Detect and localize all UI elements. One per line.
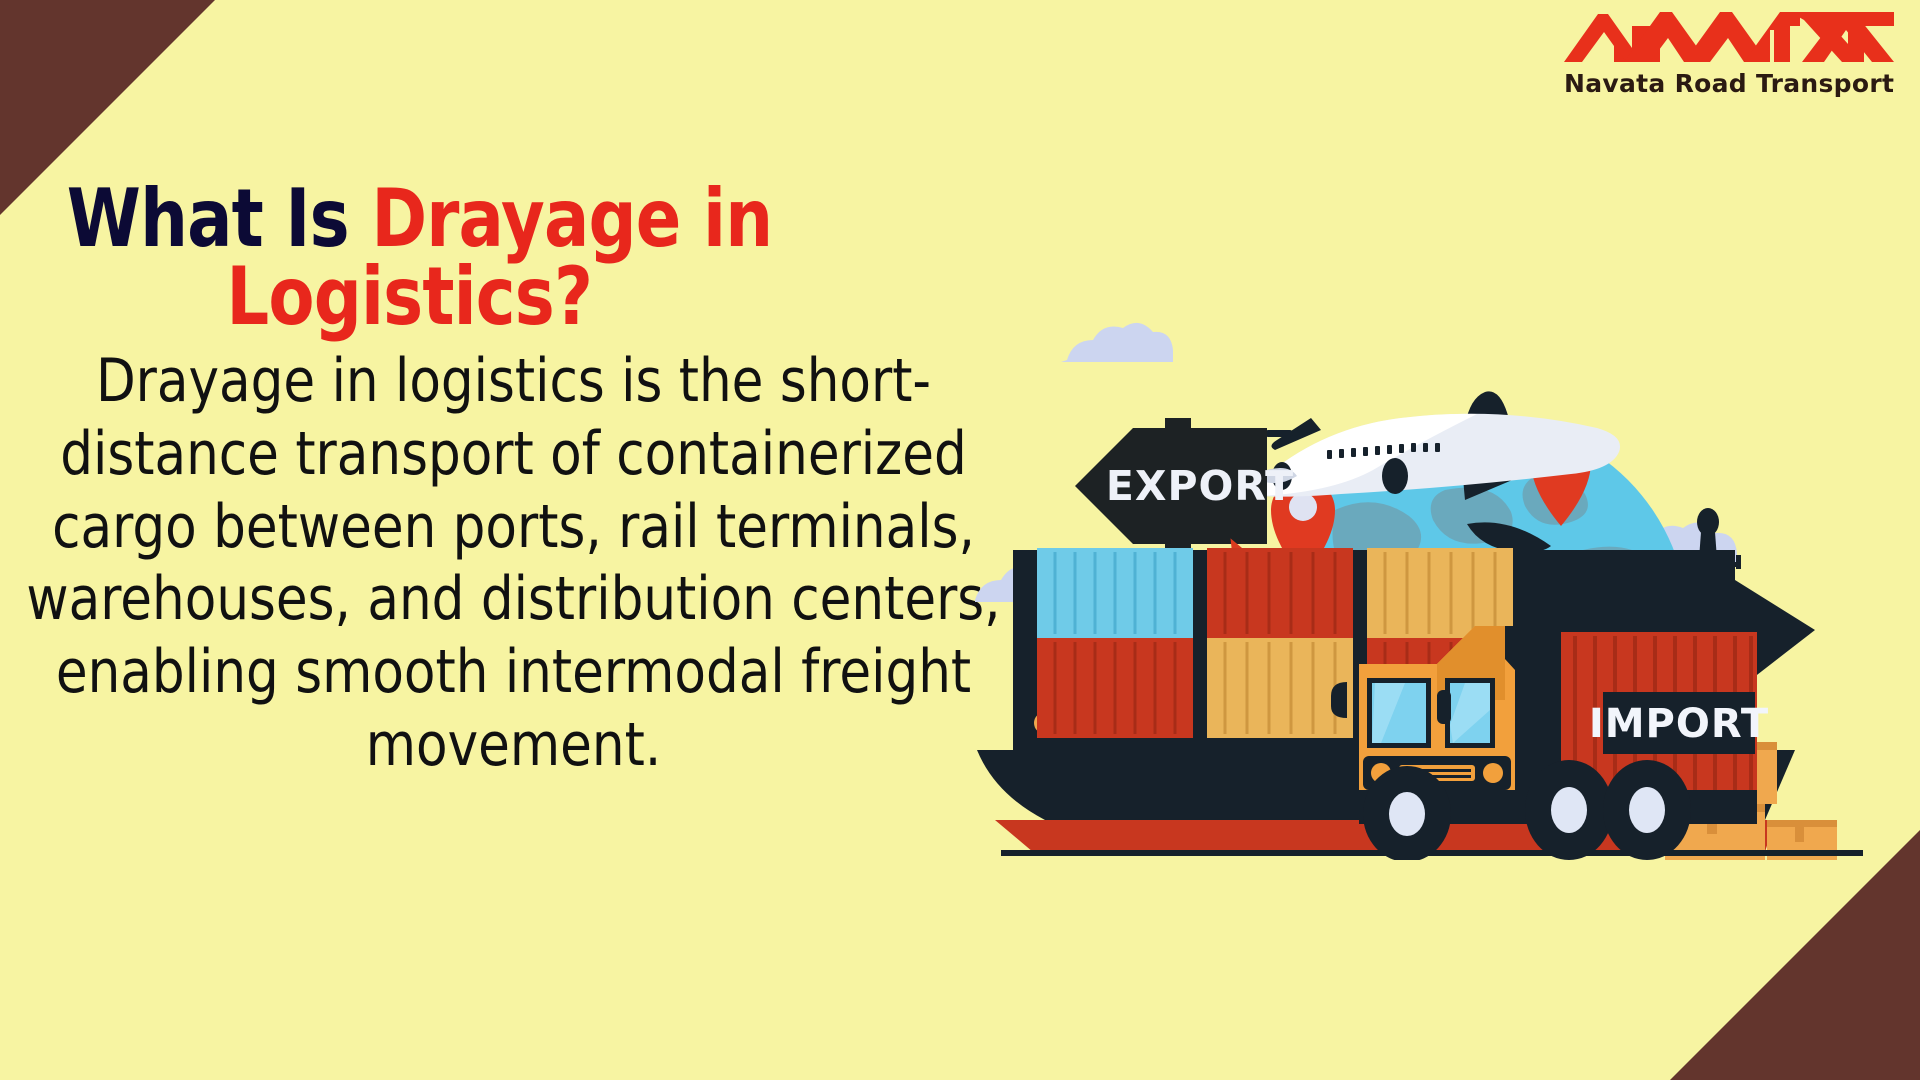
body-paragraph: Drayage in logistics is the short-distan…	[8, 345, 1019, 782]
shipping-container	[1037, 548, 1193, 738]
corner-accent-bottom-right	[1670, 830, 1920, 1080]
headline-part-3: Logistics?	[67, 258, 1016, 336]
ground-line	[1001, 850, 1863, 856]
truck-import-label: IMPORT	[1589, 701, 1769, 747]
navata-zigzag-logo-icon	[1564, 6, 1894, 68]
cloud-icon	[1061, 323, 1173, 362]
page-title: What Is Drayage inLogistics?	[8, 180, 1016, 337]
illustration-svg: EXPORT IMPORT	[975, 300, 1920, 860]
truck-wheel	[1363, 766, 1451, 860]
global-logistics-illustration: EXPORT IMPORT	[975, 300, 1920, 860]
export-sign: EXPORT	[1075, 428, 1294, 544]
shipping-container	[1207, 548, 1353, 738]
brand-wordmark: Navata Road Transport	[1564, 69, 1894, 98]
export-sign-label: EXPORT	[1106, 462, 1294, 510]
poster-canvas: Navata Road Transport What Is Drayage in…	[0, 0, 1920, 1080]
brand-logo: Navata Road Transport	[1564, 6, 1894, 98]
truck-wheel	[1603, 760, 1691, 860]
truck-wheel	[1525, 760, 1613, 860]
text-column: What Is Drayage inLogistics? Drayage in …	[8, 180, 1018, 782]
